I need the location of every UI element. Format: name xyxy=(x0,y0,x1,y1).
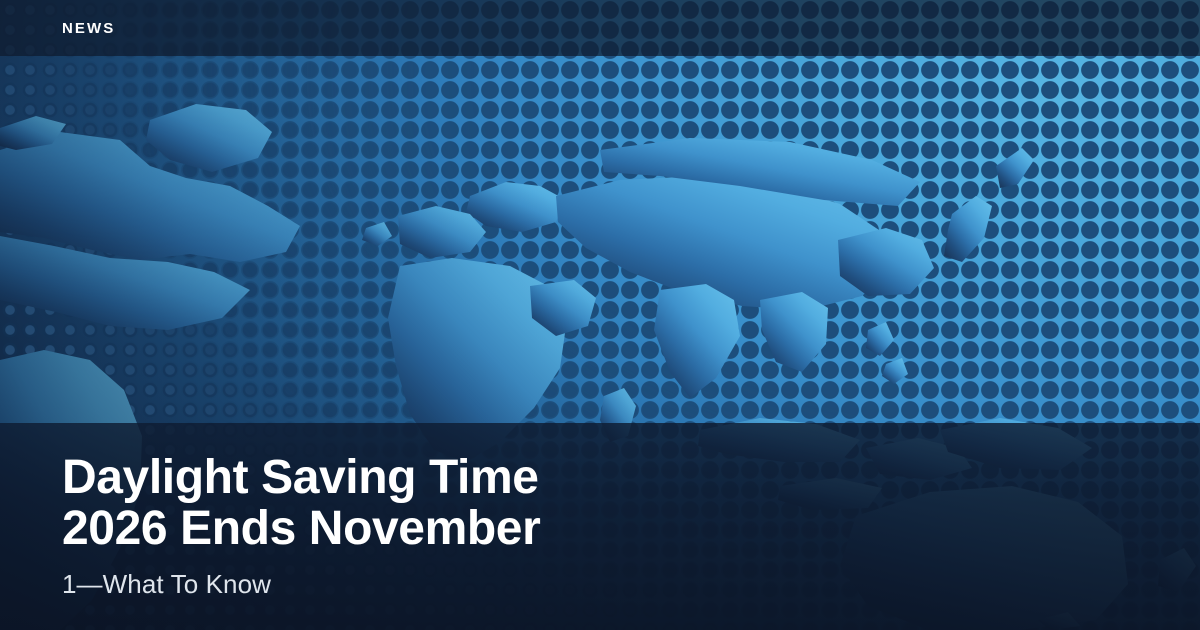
headline-block: Daylight Saving Time 2026 Ends November … xyxy=(62,452,782,600)
news-social-card: NEWS Daylight Saving Time 2026 Ends Nove… xyxy=(0,0,1200,630)
page-title: Daylight Saving Time 2026 Ends November xyxy=(62,452,782,555)
top-eyebrow-band: NEWS xyxy=(0,0,1200,56)
page-subtitle: 1—What To Know xyxy=(62,569,782,600)
category-kicker: NEWS xyxy=(62,20,115,37)
